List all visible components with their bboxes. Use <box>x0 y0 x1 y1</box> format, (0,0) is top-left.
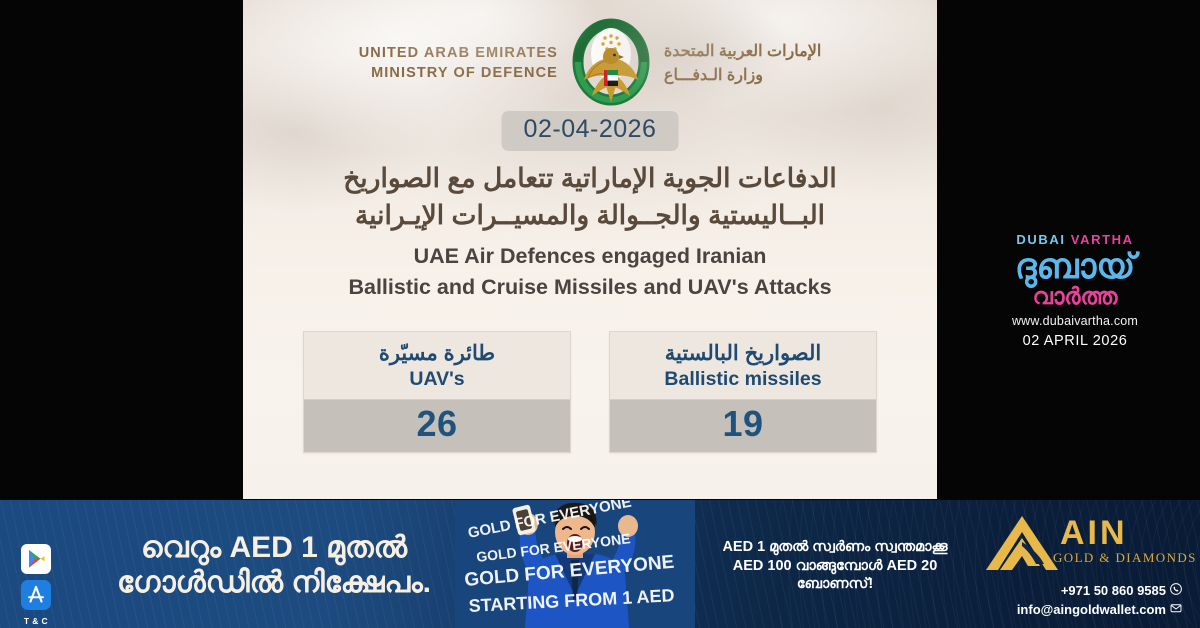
mod-arabic-line2: وزارة الـدفـــاع <box>664 64 821 88</box>
ad-hero-person-image: GOLD FOR EVERYONE GOLD FOR EVERYONE GOLD… <box>455 500 695 628</box>
statistics-row: طائرة مسيّرة UAV's 26 الصواريخ البالستية… <box>243 331 937 453</box>
mod-header: UNITED ARAB EMIRATES MINISTRY OF DEFENCE <box>243 18 937 110</box>
screenshot-canvas: UNITED ARAB EMIRATES MINISTRY OF DEFENCE <box>0 0 1200 628</box>
headline-arabic: الدفاعات الجوية الإماراتية تتعامل مع الص… <box>243 160 937 233</box>
mod-arabic-line1: الإمارات العربية المتحدة <box>664 40 821 64</box>
stat-uav-english-label: UAV's <box>310 368 564 391</box>
ad-right-offer-line1: AED 1 മുതൽ സ്വർണം സ്വന്തമാക്കൂ <box>700 538 970 557</box>
app-store-icon[interactable] <box>21 580 51 610</box>
terms-and-conditions-note: T & C APPLY. <box>8 616 64 628</box>
uae-mod-infographic-panel: UNITED ARAB EMIRATES MINISTRY OF DEFENCE <box>243 0 937 499</box>
headline-arabic-line1: الدفاعات الجوية الإماراتية تتعامل مع الص… <box>277 160 903 197</box>
dubai-vartha-malayalam-line2: വാർത്ത <box>950 284 1200 309</box>
ain-email-address: info@aingoldwallet.com <box>1017 601 1166 620</box>
app-store-badges: T & C APPLY. <box>8 544 64 628</box>
dubai-vartha-logo: DUBAI VARTHA ദുബായ് വാർത്ത www.dubaivart… <box>950 232 1200 349</box>
dubai-vartha-website[interactable]: www.dubaivartha.com <box>950 314 1200 328</box>
dubai-vartha-malayalam-line1: ദുബായ് <box>950 249 1200 286</box>
ain-email-row[interactable]: info@aingoldwallet.com <box>960 601 1182 620</box>
uae-mod-emblem-icon <box>572 18 650 110</box>
mod-english-line1: UNITED ARAB EMIRATES <box>359 44 558 64</box>
stat-uav-value: 26 <box>304 399 570 452</box>
ad-left-headline-line2: ഗോൾഡിൽ നിക്ഷേപം. <box>74 565 474 600</box>
ad-right-offer-line3: ബോണസ്! <box>700 575 970 594</box>
dubai-vartha-word-dubai: DUBAI <box>1016 232 1065 247</box>
stat-card-uav-labels: طائرة مسيّرة UAV's <box>304 332 570 399</box>
stat-uav-arabic-label: طائرة مسيّرة <box>310 341 564 367</box>
stat-card-ballistic-labels: الصواريخ البالستية Ballistic missiles <box>610 332 876 399</box>
ad-left-headline-line1: വെറും AED 1 മുതൽ <box>74 530 474 565</box>
date-badge: 02-04-2026 <box>502 110 679 151</box>
headline-english-line2: Ballistic and Cruise Missiles and UAV's … <box>277 272 903 303</box>
ain-gold-ad-banner[interactable]: T & C APPLY. വെറും AED 1 മുതൽ ഗോൾഡിൽ നിക… <box>0 500 1200 628</box>
ain-phone-number: +971 50 860 9585 <box>1061 582 1166 601</box>
whatsapp-icon <box>1170 582 1182 601</box>
ain-logo-mark-icon <box>978 512 1188 574</box>
stat-ballistic-arabic-label: الصواريخ البالستية <box>616 341 870 367</box>
mod-arabic-name: الإمارات العربية المتحدة وزارة الـدفـــا… <box>664 40 821 88</box>
ad-right-offer-text: AED 1 മുതൽ സ്വർണം സ്വന്തമാക്കൂ AED 100 വ… <box>700 538 970 594</box>
mod-english-line2: MINISTRY OF DEFENCE <box>359 64 558 84</box>
ain-phone-row[interactable]: +971 50 860 9585 <box>960 582 1182 601</box>
headline-english-line1: UAE Air Defences engaged Iranian <box>277 241 903 272</box>
stat-card-ballistic-missiles: الصواريخ البالستية Ballistic missiles 19 <box>609 331 877 453</box>
headline-arabic-line2: البــاليستية والجــوالة والمسيــرات الإي… <box>277 197 903 234</box>
ad-right-offer-line2: AED 100 വാങ്ങുമ്പോൾ AED 20 <box>700 557 970 576</box>
envelope-icon <box>1170 601 1182 620</box>
dubai-vartha-word-vartha: VARTHA <box>1071 232 1134 247</box>
google-play-icon[interactable] <box>21 544 51 574</box>
dubai-vartha-brand-latin: DUBAI VARTHA <box>950 232 1200 247</box>
stat-card-uav: طائرة مسيّرة UAV's 26 <box>303 331 571 453</box>
ad-left-headline: വെറും AED 1 മുതൽ ഗോൾഡിൽ നിക്ഷേപം. <box>74 530 474 601</box>
ain-contact-block: +971 50 860 9585 info@aingoldwallet.com <box>960 582 1190 620</box>
stat-ballistic-value: 19 <box>610 399 876 452</box>
dubai-vartha-date: 02 APRIL 2026 <box>950 333 1200 349</box>
mod-english-name: UNITED ARAB EMIRATES MINISTRY OF DEFENCE <box>359 44 558 83</box>
headline-english: UAE Air Defences engaged Iranian Ballist… <box>243 241 937 302</box>
stat-ballistic-english-label: Ballistic missiles <box>616 368 870 391</box>
